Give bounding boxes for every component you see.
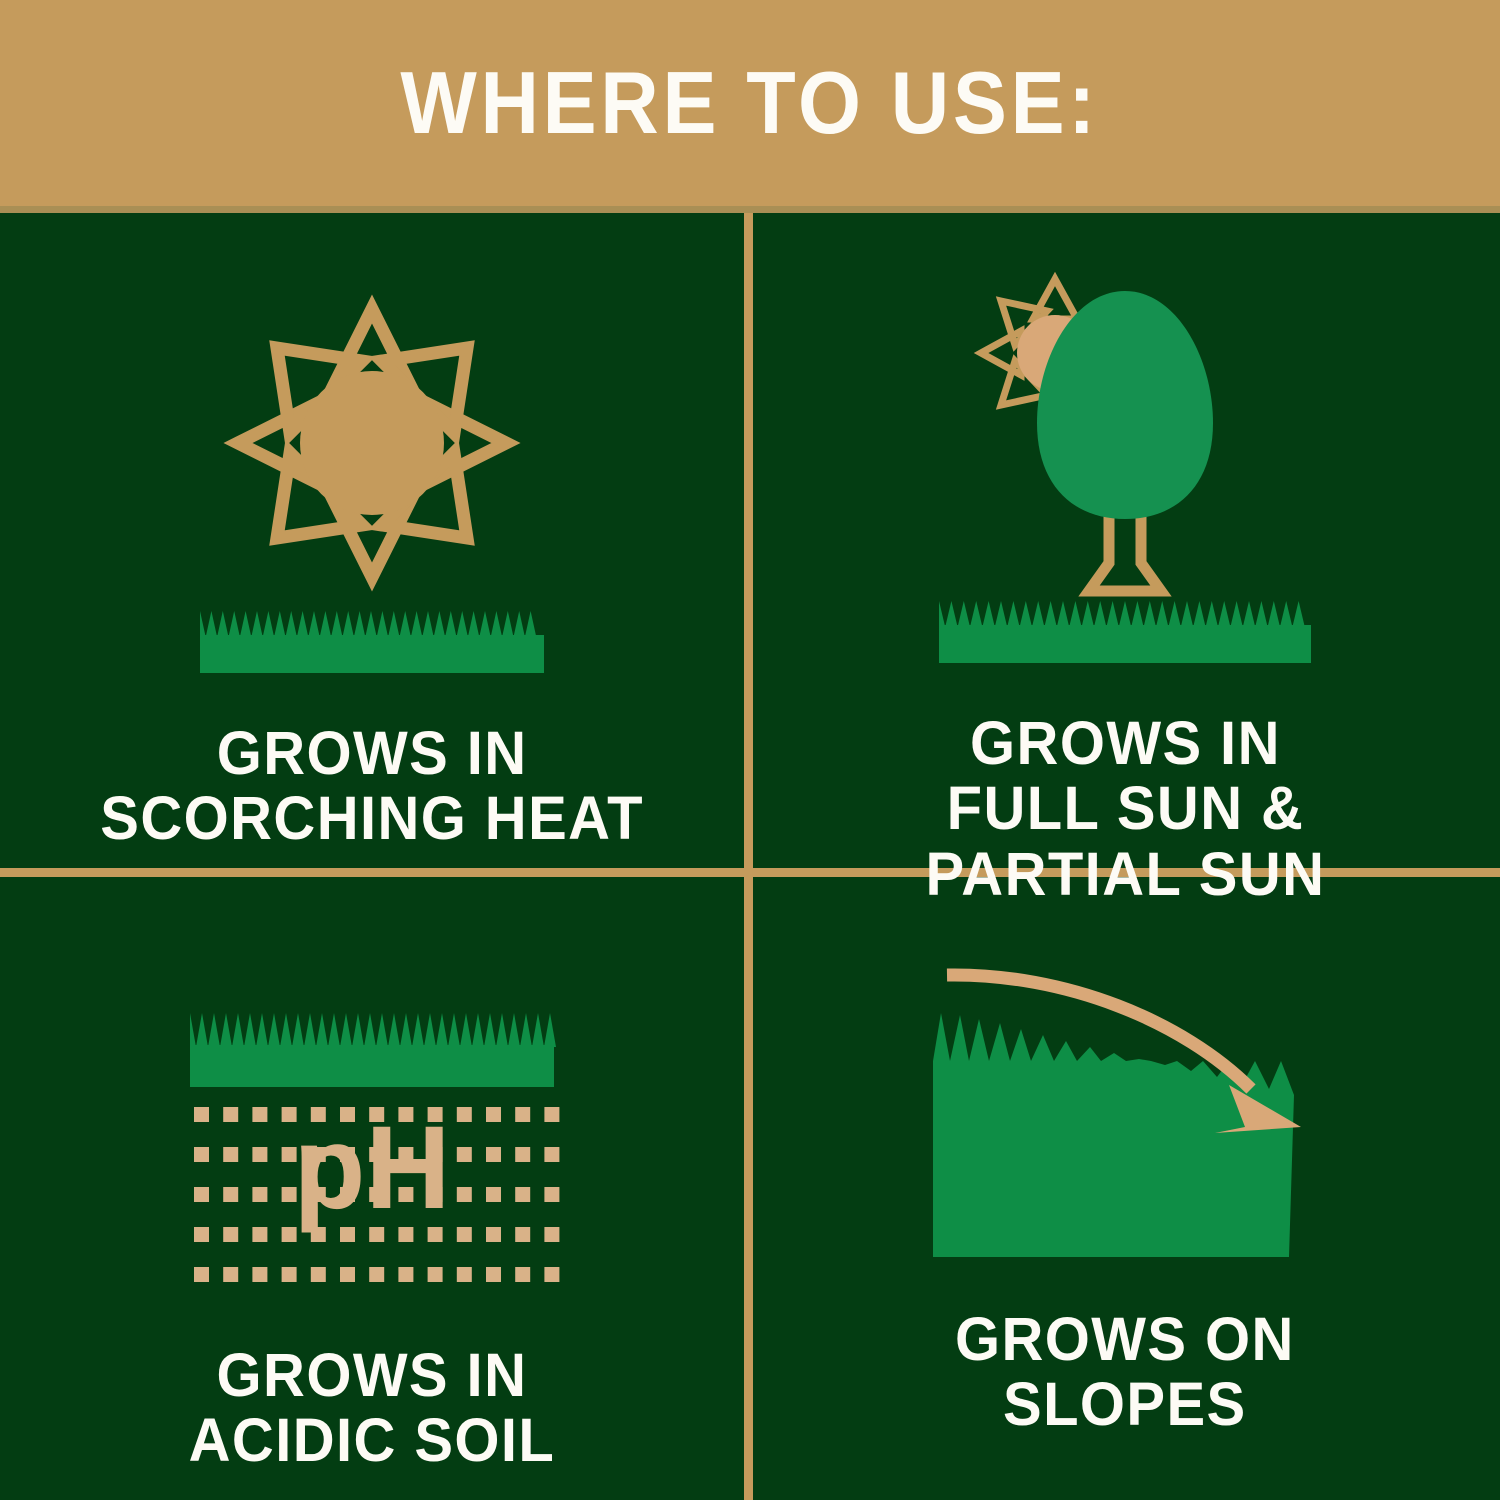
caption-acidic-soil: GROWS IN ACIDIC SOIL bbox=[189, 1343, 556, 1474]
infographic-page: WHERE TO USE: bbox=[0, 0, 1500, 1500]
sun-and-grass-illustration bbox=[172, 293, 572, 673]
soil-dot bbox=[369, 1267, 384, 1282]
quadrant-grid: GROWS IN SCORCHING HEAT bbox=[0, 213, 1500, 1500]
icon-area-full-partial-sun bbox=[753, 213, 1497, 663]
icon-area-scorching-heat bbox=[0, 213, 744, 673]
soil-dot bbox=[544, 1187, 559, 1202]
soil-dot bbox=[515, 1107, 530, 1122]
cell-full-partial-sun: GROWS IN FULL SUN & PARTIAL SUN bbox=[753, 213, 1497, 868]
soil-dot bbox=[194, 1267, 209, 1282]
header-rule bbox=[0, 206, 1500, 213]
cell-acidic-soil: pH GROWS IN ACIDIC SOIL bbox=[0, 877, 744, 1500]
soil-dot bbox=[398, 1267, 413, 1282]
grass-bar-icon bbox=[200, 611, 544, 673]
soil-dot bbox=[486, 1227, 501, 1242]
soil-dot bbox=[428, 1267, 443, 1282]
soil-dot bbox=[515, 1267, 530, 1282]
vertical-divider bbox=[744, 213, 753, 1500]
sun-icon bbox=[238, 309, 506, 577]
soil-dot bbox=[223, 1227, 238, 1242]
soil-dot bbox=[544, 1267, 559, 1282]
soil-dot bbox=[223, 1107, 238, 1122]
slope-grass-icon bbox=[933, 1013, 1294, 1257]
soil-dot bbox=[252, 1107, 267, 1122]
soil-dot bbox=[194, 1107, 209, 1122]
soil-dot bbox=[544, 1227, 559, 1242]
soil-dot bbox=[457, 1107, 472, 1122]
soil-dot bbox=[194, 1187, 209, 1202]
caption-scorching-heat: GROWS IN SCORCHING HEAT bbox=[100, 721, 644, 852]
tree-trunk-icon bbox=[1089, 509, 1161, 591]
ph-soil-illustration: pH bbox=[172, 1003, 572, 1293]
cell-slopes: GROWS ON SLOPES bbox=[753, 877, 1497, 1500]
soil-dot bbox=[515, 1187, 530, 1202]
slope-illustration bbox=[915, 957, 1335, 1257]
soil-dot bbox=[457, 1147, 472, 1162]
soil-dot bbox=[252, 1267, 267, 1282]
soil-dot bbox=[252, 1227, 267, 1242]
soil-dot bbox=[223, 1187, 238, 1202]
soil-dot bbox=[486, 1187, 501, 1202]
soil-dot bbox=[544, 1147, 559, 1162]
grass-bar-icon bbox=[190, 1013, 556, 1087]
soil-dot bbox=[457, 1227, 472, 1242]
soil-dot bbox=[486, 1267, 501, 1282]
soil-dot bbox=[252, 1147, 267, 1162]
soil-dot bbox=[311, 1267, 326, 1282]
header-band: WHERE TO USE: bbox=[0, 0, 1500, 206]
soil-dot bbox=[194, 1227, 209, 1242]
cell-scorching-heat: GROWS IN SCORCHING HEAT bbox=[0, 213, 744, 868]
soil-dot bbox=[515, 1147, 530, 1162]
soil-dot bbox=[282, 1267, 297, 1282]
sun-disc bbox=[300, 371, 444, 515]
icon-area-acidic-soil: pH bbox=[0, 877, 744, 1293]
soil-dot bbox=[486, 1147, 501, 1162]
icon-area-slopes bbox=[753, 877, 1497, 1257]
caption-slopes: GROWS ON SLOPES bbox=[955, 1307, 1295, 1438]
grass-bar-icon bbox=[939, 601, 1311, 663]
tree-sun-and-grass-illustration bbox=[925, 273, 1325, 663]
soil-dot bbox=[515, 1227, 530, 1242]
soil-dot bbox=[194, 1147, 209, 1162]
soil-dot bbox=[544, 1107, 559, 1122]
soil-dot bbox=[223, 1267, 238, 1282]
page-title: WHERE TO USE: bbox=[401, 59, 1100, 147]
soil-dot bbox=[486, 1107, 501, 1122]
soil-dot bbox=[340, 1267, 355, 1282]
soil-dot bbox=[457, 1187, 472, 1202]
ph-label: pH bbox=[293, 1102, 450, 1234]
soil-dot bbox=[223, 1147, 238, 1162]
soil-dot bbox=[457, 1267, 472, 1282]
soil-dot bbox=[252, 1187, 267, 1202]
